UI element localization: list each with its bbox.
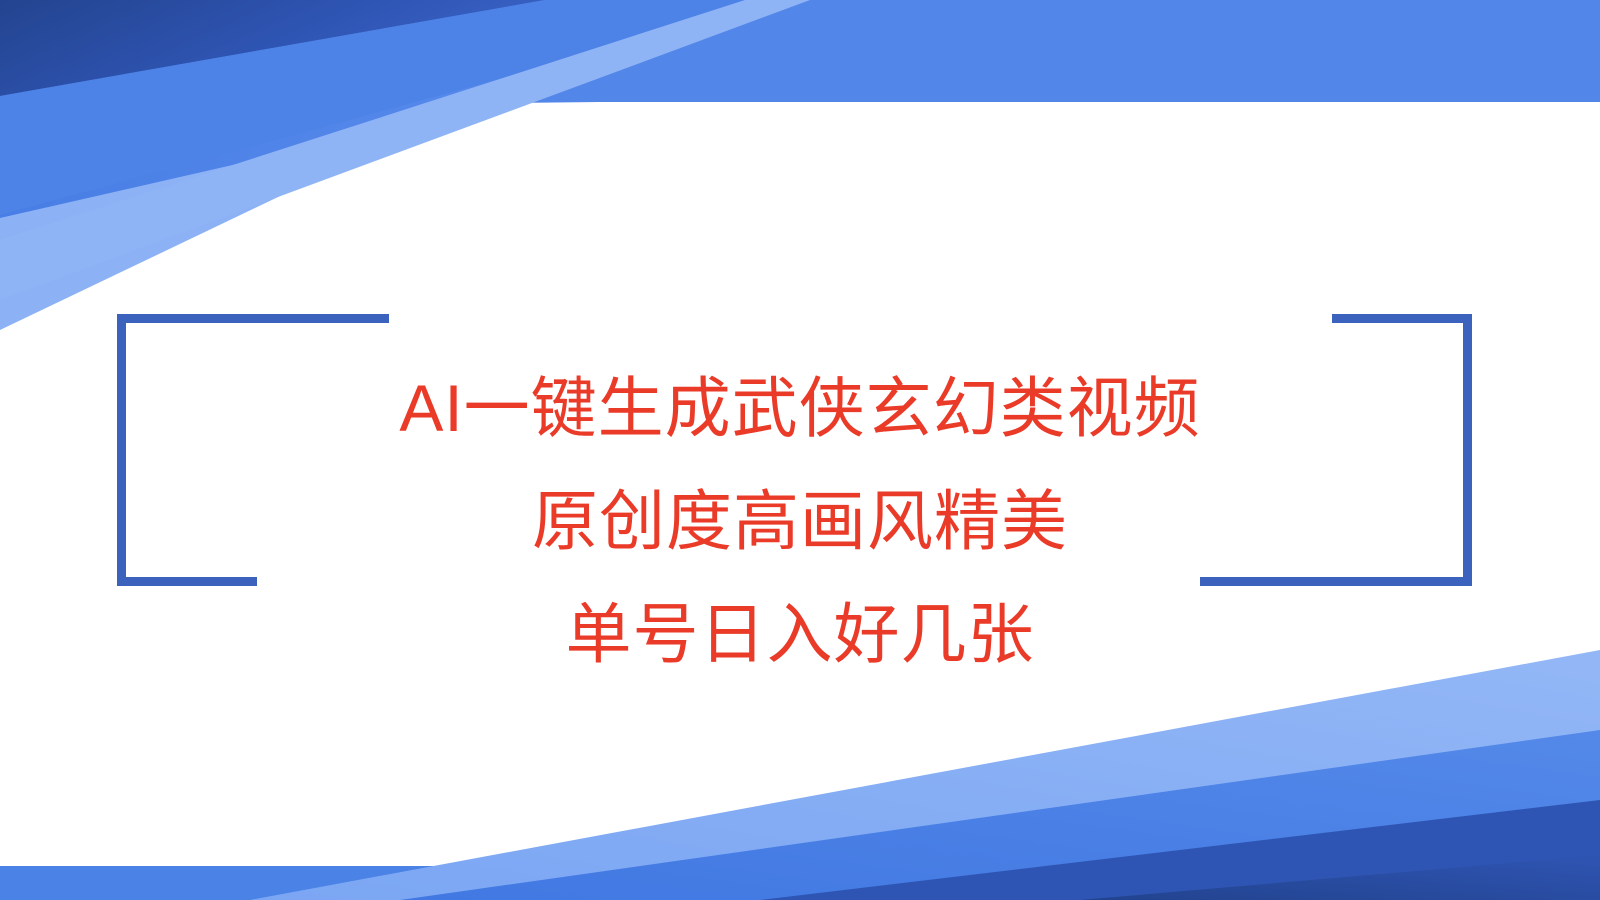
headline-block: AI一键生成武侠玄幻类视频 原创度高画风精美 单号日入好几张 — [0, 352, 1600, 691]
right-bracket-top-bar — [1332, 314, 1472, 323]
headline-line-1: AI一键生成武侠玄幻类视频 — [0, 352, 1600, 465]
left-bracket-top-bar — [117, 314, 389, 323]
poster-canvas: AI一键生成武侠玄幻类视频 原创度高画风精美 单号日入好几张 — [0, 0, 1600, 900]
headline-line-2: 原创度高画风精美 — [0, 465, 1600, 578]
headline-line-3: 单号日入好几张 — [0, 578, 1600, 691]
